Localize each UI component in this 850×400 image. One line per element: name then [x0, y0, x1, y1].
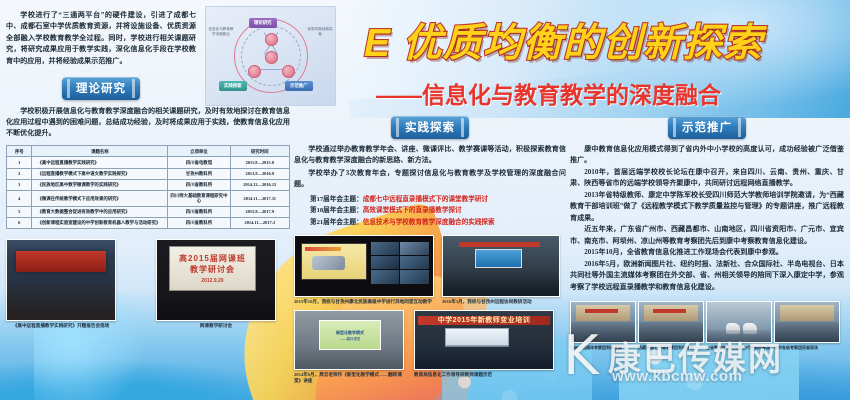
- photo-delegation-1: [570, 301, 636, 343]
- school-building: [780, 305, 834, 321]
- table-row: 1 《高中远程直播教学实践研究》 四川省电教馆 2011.8—2015.8: [7, 157, 290, 168]
- photo-delegation-3: [706, 301, 772, 343]
- photo-caption-seminar: 网课教学研讨会: [156, 323, 276, 329]
- photo-training-assembly: 中学2015年新教师变业培训: [414, 310, 554, 370]
- mid-paragraph-2: 学校举办了3次教育年会，专题探讨信息化与教育教学及学校管理的深度融合问题。: [294, 168, 566, 191]
- photo-caption-delegation-2: 西藏昌都七中等考察团到校考察: [638, 345, 704, 351]
- assembly-screen: [445, 328, 508, 347]
- assembly-banner-text: 中学2015年新教师变业培训: [418, 316, 550, 325]
- cell-time: 2014.11—2017.11: [230, 190, 289, 206]
- photo-delegation-4: [774, 301, 840, 343]
- cell-unit: 四川师大基础教育课程研究中心: [168, 190, 230, 206]
- right-paragraph-4: 近五年来，广东省广州市、西藏昌都市、山南地区，四川省资阳市、广元市、宜宾市、南充…: [570, 224, 844, 247]
- th-unit: 立项单位: [168, 146, 230, 157]
- cell-no: 1: [7, 157, 32, 168]
- cell-name: 《创新课程实验室建设的中学创新教育机器人教学与活动研究》: [32, 218, 168, 229]
- th-time: 研究时间: [230, 146, 289, 157]
- right-paragraph-3: 2013年省特级教师、康定中学陈军校长受四川师范大学教师培训学院邀请，为“西藏教…: [570, 190, 844, 224]
- left-body-paragraph: 学校积极开展信息化与教育教学深度融合的相关课题研究，及时有效地探讨在教育信息化应…: [6, 106, 290, 139]
- photo-caption-training-assembly: 教育局信息化工作领导班教师课题示范: [414, 372, 554, 378]
- cell-name: 《高中远程直播教学实践研究》: [32, 157, 168, 168]
- welcome-banner: [585, 309, 618, 314]
- page-subtitle: ——信息化与教育教学的深度融合: [376, 76, 721, 110]
- th-name: 课题名称: [32, 146, 168, 157]
- lecture-slide: [301, 243, 367, 280]
- table-row: 5 《教育大数据整合促进有效教学中的应用研究》 四川省教科所 2015.9—20…: [7, 206, 290, 217]
- theme-value-21: 信息技术与学校教育教学深度融合的实践探索: [363, 219, 495, 226]
- cell-time: 2011.8—2015.8: [230, 157, 289, 168]
- theme-line-21: 第21届年会主题：信息技术与学校教育教学深度融合的实践探索: [294, 217, 566, 229]
- cell-unit: 甘孜州教科所: [168, 168, 230, 179]
- screen-line-3: 2012.9.20: [201, 278, 223, 284]
- photo-delegation-2: [638, 301, 704, 343]
- theme-label-17: 第17届年会主题：: [310, 196, 363, 203]
- cell-no: 4: [7, 190, 32, 206]
- cell-name: 《微课在传统教学模式下应用效果的研究》: [32, 190, 168, 206]
- projection-line-2: ——翻转课堂: [340, 336, 360, 341]
- cell-no: 2: [7, 168, 32, 179]
- video-tile: [371, 242, 399, 255]
- cell-name: 《教育大数据整合促进有效教学中的应用研究》: [32, 206, 168, 217]
- table-row: 6 《创新课程实验室建设的中学创新教育机器人教学与活动研究》 四川省教科所 20…: [7, 218, 290, 229]
- cell-time: 2014.12—2016.12: [230, 179, 289, 190]
- theme-line-18: 第18届年会主题：高效课堂模式下的直录播教学探讨: [294, 205, 566, 217]
- projector-screen: 高2015届网课班 教学研讨会 2012.9.20: [169, 246, 256, 291]
- right-paragraph-6: 2016年5月，欧洲新闻图片社、纽约时报、法新社、合众国际社、半岛电视台、日本共…: [570, 259, 844, 293]
- video-tile: [400, 242, 428, 255]
- cell-unit: 四川省教科所: [168, 218, 230, 229]
- research-topics-table: 序号 课题名称 立项单位 研究时间 1 《高中远程直播教学实践研究》 四川省电教…: [6, 145, 290, 229]
- photo-caption-remote-research: 2016年3月，我校与甘孜州远程协同教研活动: [442, 299, 560, 305]
- table-row: 3 《民族地区高中数学微课教学的实践研究》 四川省教科所 2014.12—201…: [7, 179, 290, 190]
- cell-time: 2015.9—2017.9: [230, 206, 289, 217]
- welcome-banner: [653, 309, 686, 314]
- screen-line-1: 高2015届网课班: [179, 253, 246, 264]
- vehicle: [726, 323, 740, 333]
- lecture-projection: 新型化教学模式 ——翻转课堂: [319, 320, 382, 350]
- classroom-display: [475, 249, 521, 268]
- cell-time: 2013.9—2016.9: [230, 168, 289, 179]
- photo-seminar: 高2015届网课班 教学研讨会 2012.9.20: [156, 239, 276, 321]
- photo-remote-research: [442, 235, 560, 297]
- cell-unit: 四川省电教馆: [168, 157, 230, 168]
- video-tile: [371, 256, 399, 269]
- video-wall: [371, 242, 429, 284]
- right-paragraph-1: 康中教育信息化应用模式得到了省内外中小学校的高度认可，成功经验被广泛借鉴推广。: [570, 144, 844, 167]
- poster-page: E 优质均衡的创新探索 ——信息化与教育教学的深度融合 理论研究 实践探索 示范…: [0, 0, 850, 400]
- photo-caption-opening-report: 《高中远程直播教学实践研究》开题报告会现场: [6, 323, 116, 329]
- theme-line-17: 第17届年会主题：成都七中远程直录播模式下的课堂教学研讨: [294, 194, 566, 206]
- cell-name: 《远程直播教学模式下高中语文教学实践探究》: [32, 168, 168, 179]
- cell-unit: 四川省教科所: [168, 206, 230, 217]
- cell-time: 2014.11—2017.3: [230, 218, 289, 229]
- left-intro-paragraph: 学校进行了“三通两平台”的硬件建设，引进了成都七中、成都石室中学优质教育资源，并…: [6, 10, 196, 67]
- photo-caption-delegation-4: 省市各级考察团莅临现场: [774, 345, 840, 351]
- table-row: 4 《微课在传统教学模式下应用效果的研究》 四川师大基础教育课程研究中心 201…: [7, 190, 290, 206]
- page-title: E 优质均衡的创新探索: [364, 12, 763, 68]
- photo-caption-lecture: 2014年9月，周云老师作《新型化教学模式——翻转课堂》讲座: [294, 372, 404, 385]
- right-paragraph-2: 2010年，首届远端学校校长论坛在康中召开，来自四川、云南、贵州、重庆、甘肃、陕…: [570, 167, 844, 190]
- video-tile: [400, 270, 428, 283]
- slide-figure: [312, 256, 345, 270]
- photo-caption-delegation-3: 全省教育信息化推进会代表到校参观: [706, 345, 772, 351]
- photo-opening-report: [6, 239, 116, 321]
- theme-value-17: 成都七中远程直录播模式下的课堂教学研讨: [363, 196, 488, 203]
- section-badge-practice: 实践探索: [391, 116, 469, 139]
- video-tile: [371, 270, 399, 283]
- classroom-banner: [459, 242, 540, 247]
- photo-caption-delegation-1: 欧洲主流媒体考察团到校考察: [570, 345, 636, 351]
- video-tile: [400, 256, 428, 269]
- photo-caption-dual-classroom: 2015年10月，我校与甘孜州康北民族高级中学进行异地同堂互动教学: [294, 299, 434, 305]
- cell-no: 5: [7, 206, 32, 217]
- theme-label-18: 第18届年会主题：: [310, 207, 363, 214]
- photo-dual-classroom: [294, 235, 434, 297]
- slide-title-bar: [305, 247, 341, 252]
- cell-name: 《民族地区高中数学微课教学的实践研究》: [32, 179, 168, 190]
- cell-no: 6: [7, 218, 32, 229]
- cell-no: 3: [7, 179, 32, 190]
- table-header-row: 序号 课题名称 立项单位 研究时间: [7, 146, 290, 157]
- right-paragraph-5: 2015年10月，全省教育信息化推进工作现场会代表到康中参观。: [570, 247, 844, 258]
- th-no: 序号: [7, 146, 32, 157]
- vehicle: [743, 323, 757, 333]
- table-row: 2 《远程直播教学模式下高中语文教学实践探究》 甘孜州教科所 2013.9—20…: [7, 168, 290, 179]
- photo-lecture: 新型化教学模式 ——翻转课堂: [294, 310, 404, 370]
- mid-paragraph-1: 学校通过举办教育教学年会、讲座、微课评比、教学赛课等活动，积极探索教育信息化与教…: [294, 144, 566, 167]
- screen-line-2: 教学研讨会: [190, 264, 235, 275]
- theme-label-21: 第21届年会主题：: [310, 219, 363, 226]
- cell-unit: 四川省教科所: [168, 179, 230, 190]
- section-badge-theory: 理论研究: [62, 77, 140, 100]
- theme-value-18: 高效课堂模式下的直录播教学探讨: [363, 207, 462, 214]
- column-left: 学校进行了“三通两平台”的硬件建设，引进了成都七中、成都石室中学优质教育资源，并…: [6, 0, 290, 330]
- section-badge-promotion: 示范推广: [668, 116, 746, 139]
